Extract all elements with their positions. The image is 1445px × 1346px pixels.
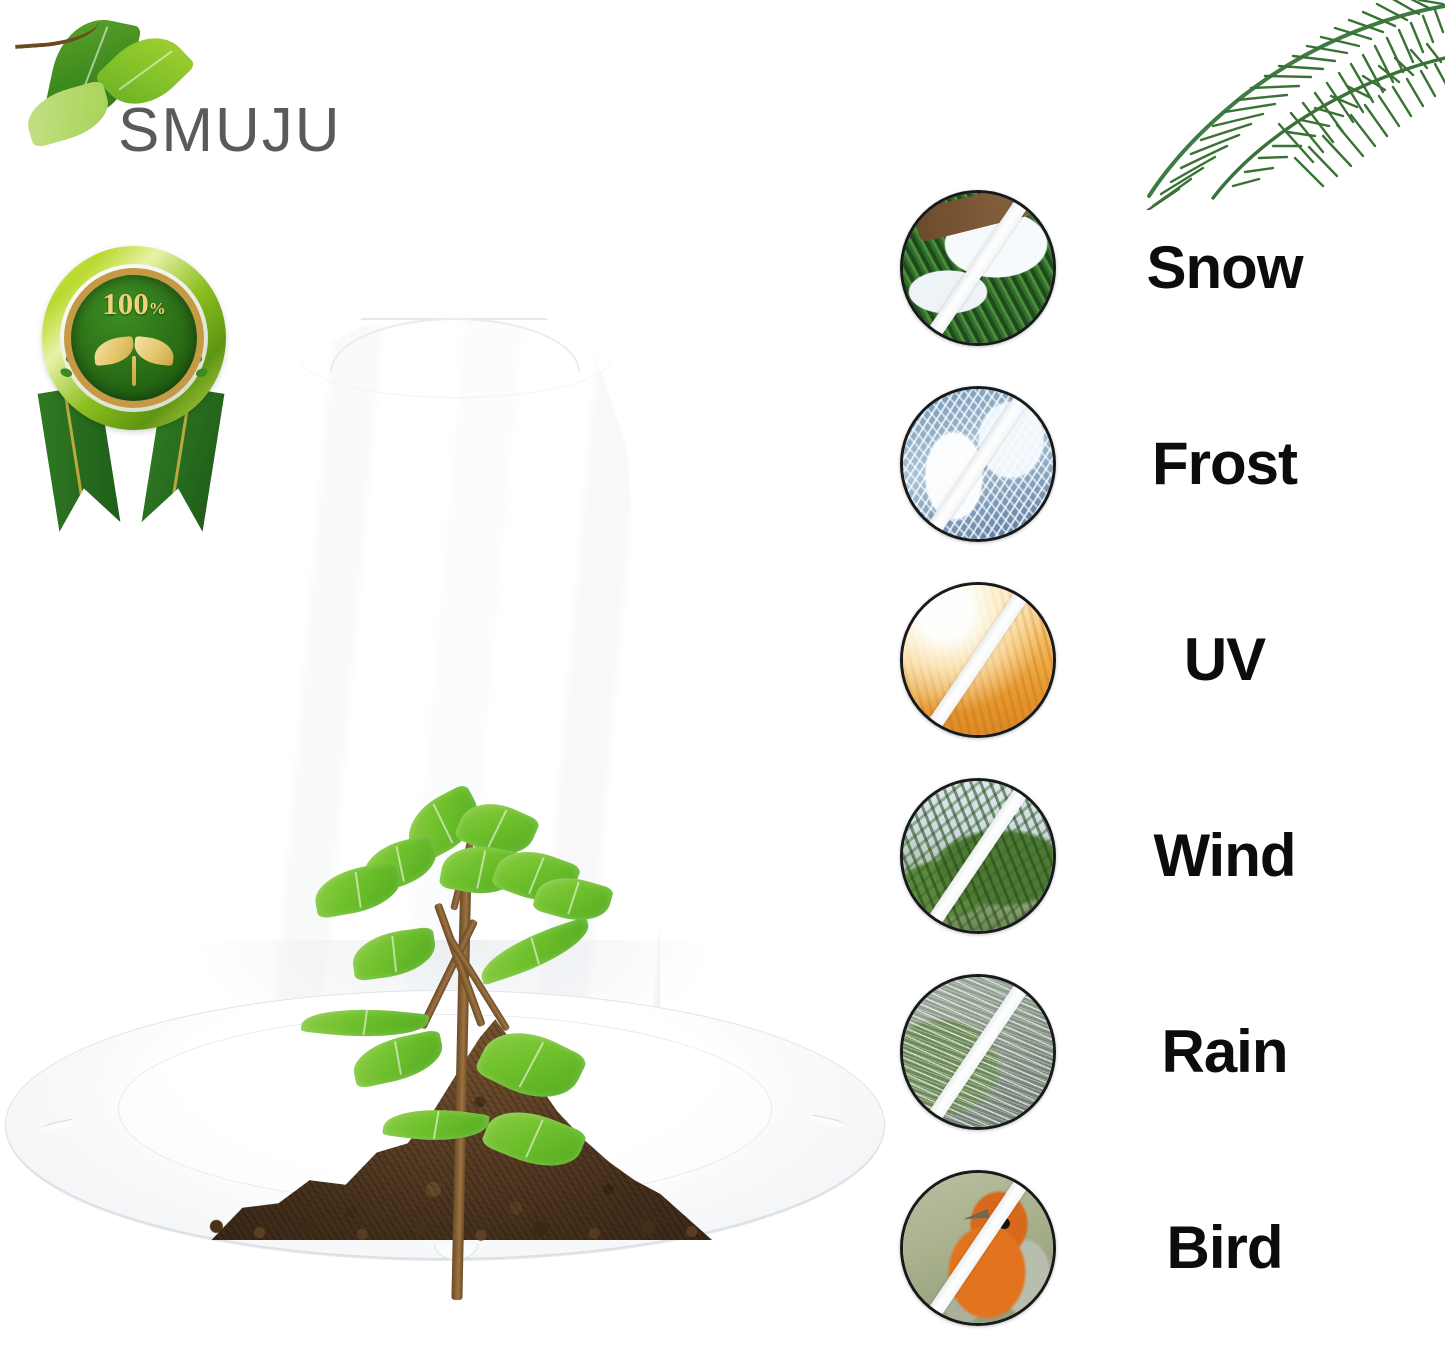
feature-label: Bird: [1056, 1218, 1445, 1278]
feature-label: UV: [1056, 630, 1445, 690]
feature-label: Frost: [1056, 434, 1445, 494]
robin-bird-thumb[interactable]: [900, 1170, 1056, 1326]
leaf-pale-icon: [21, 79, 115, 148]
plant-leaf: [474, 917, 597, 986]
rainfall-thumb[interactable]: [900, 974, 1056, 1130]
weather-protection-feature-list: Snow Frost UV Wind Rain: [900, 170, 1445, 1344]
plant-sapling: [300, 790, 640, 1300]
feature-row: Wind: [900, 758, 1445, 954]
feature-label: Wind: [1056, 826, 1445, 886]
feature-row: Rain: [900, 954, 1445, 1150]
sun-glare-thumb[interactable]: [900, 582, 1056, 738]
plant-leaf: [349, 926, 438, 981]
plant-leaf: [311, 861, 405, 920]
plant-leaf: [349, 1029, 448, 1089]
feature-row: Frost: [900, 366, 1445, 562]
feature-row: Snow: [900, 170, 1445, 366]
plant-leaf: [382, 1101, 490, 1149]
windy-palms-thumb[interactable]: [900, 778, 1056, 934]
plant-leaf: [480, 1098, 588, 1180]
snow-on-pine-thumb[interactable]: [900, 190, 1056, 346]
brand-logo: SMUJU: [14, 12, 374, 162]
brand-wordmark: SMUJU: [118, 100, 342, 162]
plant-leaf: [473, 1016, 588, 1115]
feature-label: Rain: [1056, 1022, 1445, 1082]
feature-row: UV: [900, 562, 1445, 758]
feature-label: Snow: [1056, 238, 1445, 298]
feature-row: Bird: [900, 1150, 1445, 1346]
frost-on-pine-thumb[interactable]: [900, 386, 1056, 542]
